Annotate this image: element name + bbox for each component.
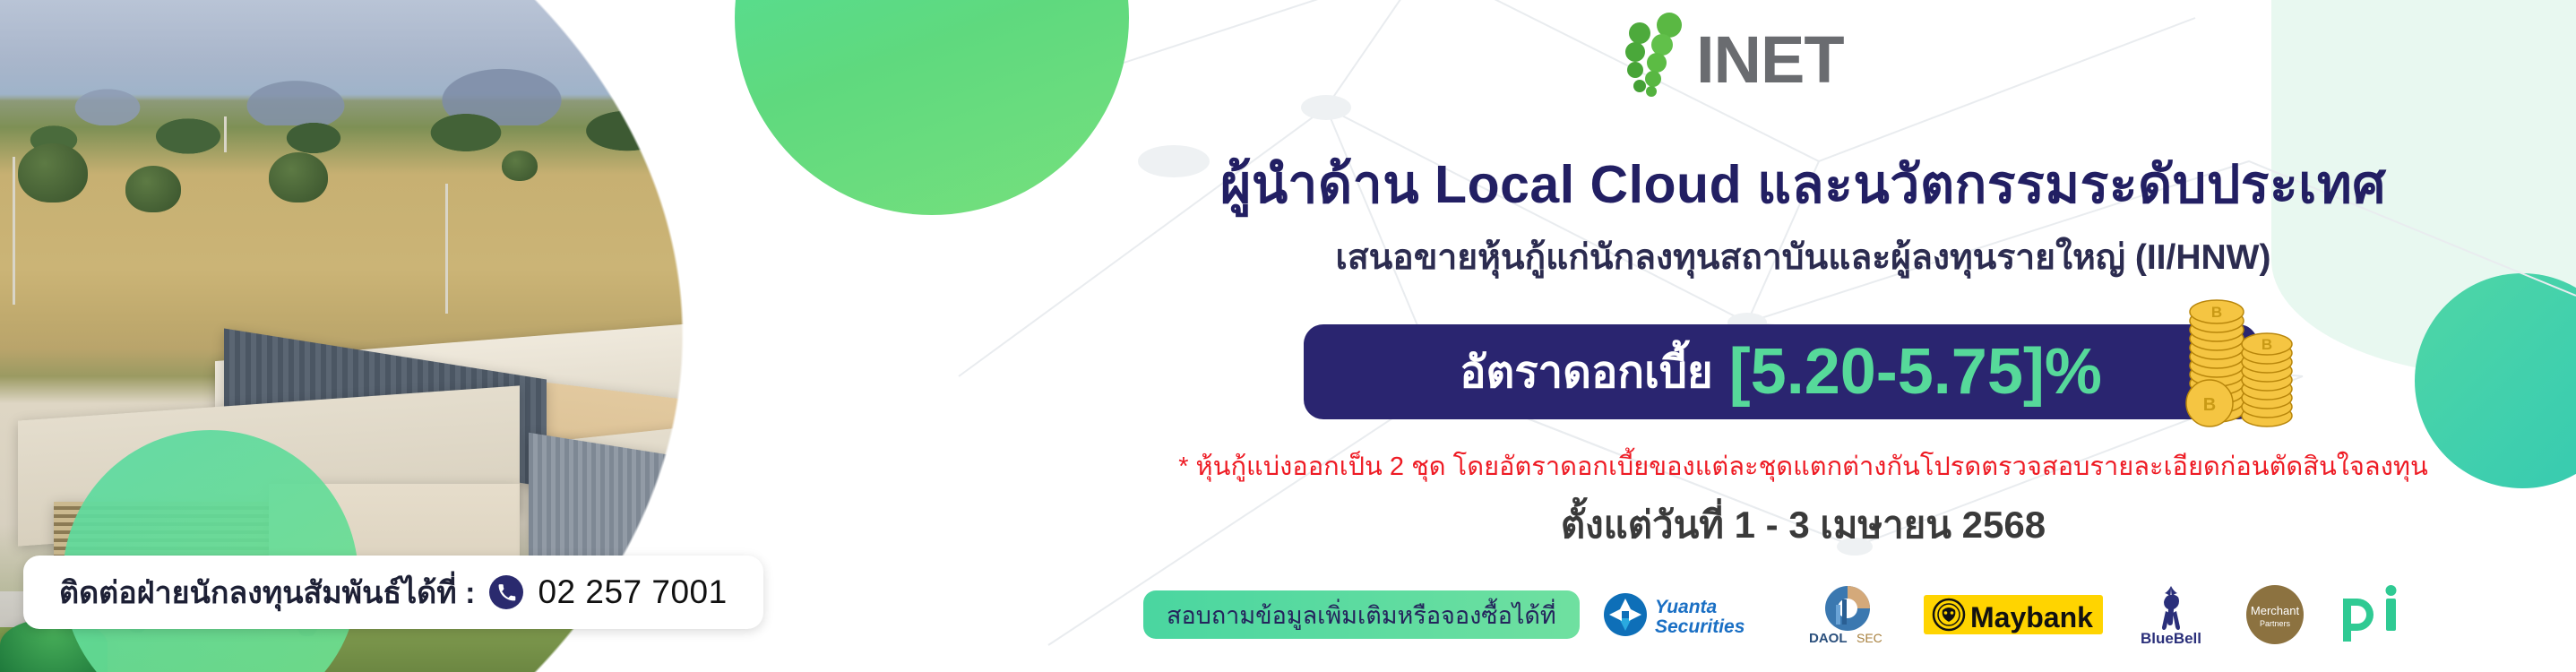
contact-phone-number: 02 257 7001 [538,573,727,611]
inet-dots-logo [1625,13,1682,97]
gold-coins-icon: B B B [2179,297,2305,432]
partner-daol-sec[interactable]: DAOL SEC [1798,582,1897,647]
daol-line1: DAOL [1809,631,1848,646]
yuanta-line1: Yuanta [1655,597,1718,617]
field-tree [269,152,328,202]
partner-pi[interactable] [2338,582,2408,647]
partner-yuanta-securities[interactable]: Yuanta Securities [1601,582,1771,647]
interest-rate-value: [5.20-5.75]% [1729,340,2102,404]
content-column: INET ผู้นำด้าน Local Cloud และนวัตกรรมระ… [1030,0,2576,672]
maybank-wordmark: Maybank [1970,601,2093,633]
offering-dateline: ตั้งแต่วันที่ 1 - 3 เมษายน 2568 [1030,495,2576,555]
yuanta-line2: Securities [1655,616,1745,637]
inet-logo: INET [1590,11,1931,97]
daol-pie-icon [1825,586,1870,631]
offering-footnote: * หุ้นกู้แบ่งออกเป็น 2 ชุด โดยอัตราดอกเบ… [1030,445,2576,487]
field-tree [502,151,538,181]
page-subtitle: เสนอขายหุ้นกู้แก่นักลงทุนสถาบันและผู้ลงท… [1030,229,2576,285]
maybank-tiger-icon [1934,599,1964,630]
field-tree [18,143,88,202]
bluebell-wordmark: BlueBell [2141,630,2201,647]
bluebell-deer-icon [2162,586,2180,630]
contact-label: ติดต่อฝ่ายนักลงทุนสัมพันธ์ได้ที่ : [59,568,475,616]
utility-pole [13,157,15,305]
svg-text:B: B [2262,336,2272,353]
interest-rate-label: อัตราดอกเบี้ย [1460,337,1713,407]
svg-text:B: B [2211,304,2222,321]
inet-wordmark: INET [1696,22,1844,97]
page-title: ผู้นำด้าน Local Cloud และนวัตกรรมระดับปร… [1030,142,2576,226]
utility-pole [224,116,227,152]
inet-bond-offering-banner: ติดต่อฝ่ายนักลงทุนสัมพันธ์ได้ที่ : 02 25… [0,0,2576,672]
footer-row: สอบถามข้อมูลเพิ่มเติมหรือจองซื้อได้ที่ Y… [1030,582,2576,647]
merchant-line1: Merchant [2251,604,2300,617]
phone-icon [489,575,523,609]
partner-maybank[interactable]: Maybank [1924,582,2103,647]
partner-bluebell[interactable]: BlueBell [2130,582,2212,647]
utility-pole [445,184,448,314]
field-tree [125,166,181,212]
yuanta-star-icon [1604,593,1647,636]
merchant-line2: Partners [2260,619,2291,628]
partner-merchant-partners[interactable]: Merchant Partners [2239,582,2311,647]
subscribe-inquiry-button[interactable]: สอบถามข้อมูลเพิ่มเติมหรือจองซื้อได้ที่ [1143,590,1580,639]
interest-rate-box: อัตราดอกเบี้ย [5.20-5.75]% [1304,324,2258,419]
daol-line2: SEC [1857,631,1882,645]
svg-text:B: B [2203,395,2216,415]
investor-relations-contact-card[interactable]: ติดต่อฝ่ายนักลงทุนสัมพันธ์ได้ที่ : 02 25… [23,556,763,629]
partner-logos: Yuanta Securities DAOL [1601,582,2408,647]
pi-logo-icon [2343,585,2397,642]
rooftop-unit [797,224,856,276]
